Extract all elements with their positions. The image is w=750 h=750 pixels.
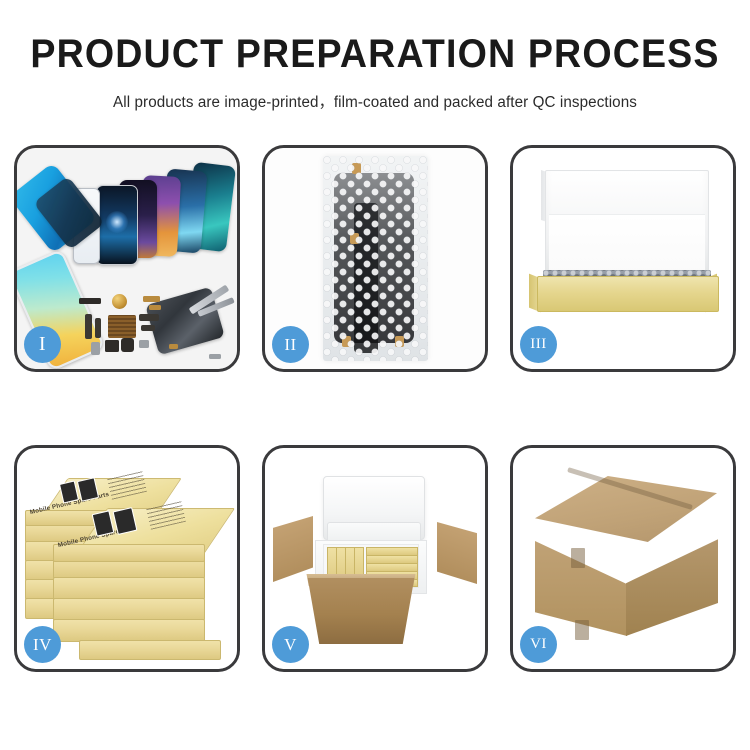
step-panel-6: VI bbox=[510, 445, 736, 672]
page-subtitle: All products are image-printed，film-coat… bbox=[8, 90, 743, 112]
page-title: PRODUCT PREPARATION PROCESS bbox=[23, 34, 728, 74]
step-badge-2: II bbox=[272, 326, 309, 363]
flex-cable-1 bbox=[85, 314, 92, 339]
small-part-1 bbox=[79, 298, 101, 304]
small-part-2 bbox=[143, 296, 160, 302]
phone-mockup-front bbox=[96, 185, 138, 265]
small-part-7 bbox=[169, 344, 178, 349]
screw-set bbox=[209, 354, 221, 359]
speaker-module bbox=[121, 338, 134, 352]
printed-box-front-front bbox=[53, 544, 205, 562]
step-panel-5: V bbox=[262, 445, 488, 672]
shipping-carton-body bbox=[303, 578, 419, 644]
small-part-6 bbox=[139, 340, 149, 348]
small-part-5 bbox=[105, 340, 119, 352]
stacked-box-r4 bbox=[53, 619, 205, 642]
bubble-wrap-bag bbox=[323, 156, 428, 361]
bubble-texture-highlight bbox=[323, 156, 428, 361]
step-panel-3: III bbox=[510, 145, 736, 372]
step-badge-1: I bbox=[24, 326, 61, 363]
step-panel-1: I bbox=[14, 145, 240, 372]
carton-tape-mark-2 bbox=[575, 620, 589, 640]
step-badge-6: VI bbox=[520, 626, 557, 663]
step-badge-4: IV bbox=[24, 626, 61, 663]
step-panel-4: Mobile Phone Spare Parts Mobile Phone Sp… bbox=[14, 445, 240, 672]
page-header: PRODUCT PREPARATION PROCESS All products… bbox=[0, 0, 750, 112]
foam-insert bbox=[549, 214, 705, 277]
small-part-3 bbox=[149, 305, 161, 310]
kraft-box-tray bbox=[537, 276, 719, 312]
step-badge-3: III bbox=[520, 326, 557, 363]
stacked-box-r3 bbox=[53, 598, 205, 621]
stacked-box-r2 bbox=[53, 577, 205, 600]
carton-tape-mark-1 bbox=[571, 548, 585, 568]
flex-cable-3 bbox=[139, 314, 159, 321]
stacked-box-r5 bbox=[79, 640, 221, 660]
connector-pad-grid bbox=[108, 315, 136, 338]
small-part-4 bbox=[91, 342, 100, 355]
step-panel-2: II bbox=[262, 145, 488, 372]
flex-cable-2 bbox=[95, 318, 101, 338]
flex-cable-4 bbox=[141, 325, 155, 331]
vibration-motor-part bbox=[112, 294, 127, 309]
step-badge-5: V bbox=[272, 626, 309, 663]
process-step-grid: I II bbox=[14, 145, 736, 672]
